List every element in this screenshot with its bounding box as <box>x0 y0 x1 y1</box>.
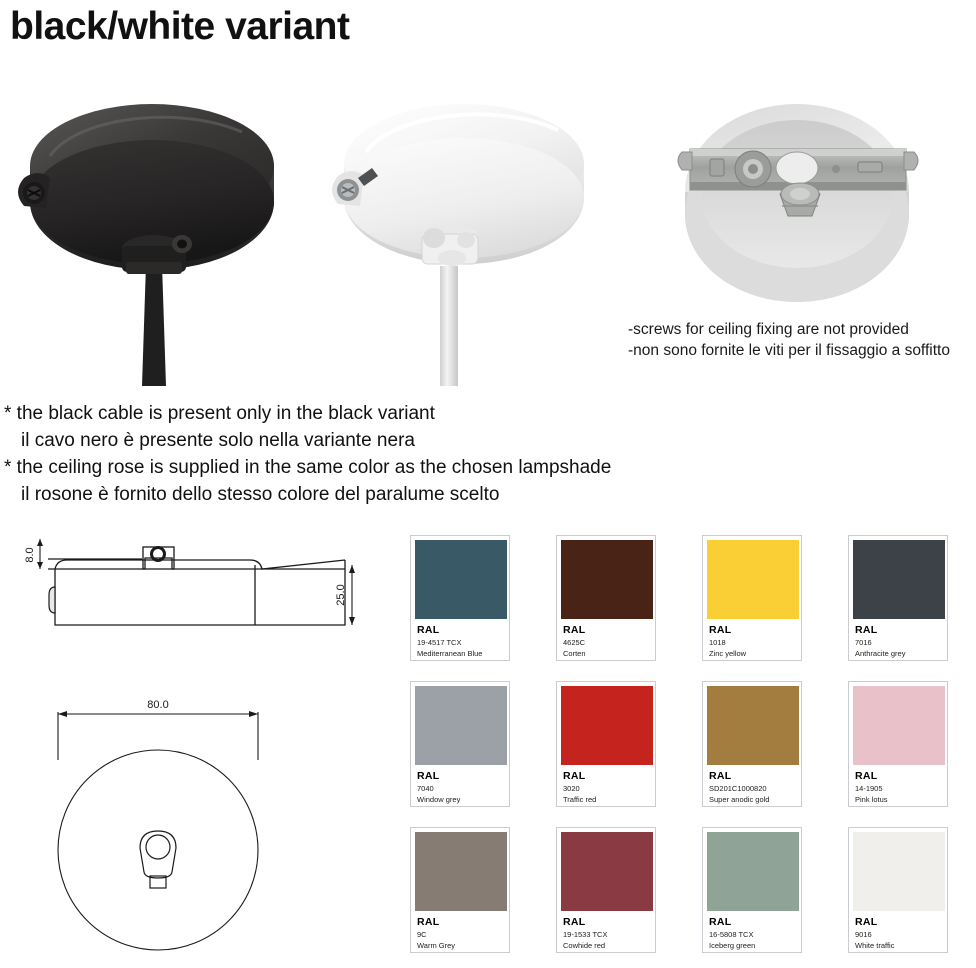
swatch-brand-label: RAL <box>709 624 797 636</box>
swatch-card[interactable]: RAL 19-4517 TCX Mediterranean Blue <box>410 535 510 661</box>
swatch-card[interactable]: RAL 7040 Window grey <box>410 681 510 807</box>
swatch-color-chip <box>707 540 799 619</box>
ceiling-rose-white-photo <box>322 86 622 386</box>
swatch-brand-label: RAL <box>709 916 797 928</box>
swatch-brand-label: RAL <box>417 916 505 928</box>
swatch-name: Window grey <box>417 794 505 805</box>
swatch-code: 14-1905 <box>855 783 943 794</box>
swatch-code: 9016 <box>855 929 943 940</box>
plan-view-diameter-label: 80.0 <box>147 699 168 711</box>
swatch-brand-label: RAL <box>563 624 651 636</box>
swatch-brand-label: RAL <box>563 916 651 928</box>
swatch-card[interactable]: RAL 9C Warm Grey <box>410 827 510 953</box>
swatch-code: 16-5808 TCX <box>709 929 797 940</box>
swatch-color-chip <box>561 686 653 765</box>
swatch-color-chip <box>707 832 799 911</box>
swatch-color-chip <box>415 540 507 619</box>
swatch-brand-label: RAL <box>855 770 943 782</box>
swatch-color-chip <box>415 686 507 765</box>
page-title: black/white variant <box>10 2 349 52</box>
swatch-code: 4625C <box>563 637 651 648</box>
swatch-name: Traffic red <box>563 794 651 805</box>
swatch-card[interactable]: RAL 9016 White traffic <box>848 827 948 953</box>
screw-note-line-it: -non sono fornite le viti per il fissagg… <box>628 341 950 362</box>
swatch-color-chip <box>561 832 653 911</box>
swatch-code: 9C <box>417 929 505 940</box>
swatch-name: Zinc yellow <box>709 648 797 659</box>
screw-note-line-en: -screws for ceiling fixing are not provi… <box>628 320 950 341</box>
swatch-code: 3020 <box>563 783 651 794</box>
swatch-name: White traffic <box>855 940 943 951</box>
ceiling-rose-bracket-photo <box>630 94 970 309</box>
swatch-card[interactable]: RAL SD201C1000820 Super anodic gold <box>702 681 802 807</box>
swatch-name: Warm Grey <box>417 940 505 951</box>
swatch-card[interactable]: RAL 19-1533 TCX Cowhide red <box>556 827 656 953</box>
swatch-code: 1018 <box>709 637 797 648</box>
swatch-color-chip <box>853 686 945 765</box>
side-view-height-label: 8.0 <box>24 547 36 562</box>
plan-view-drawing: 80.0 <box>0 690 400 968</box>
swatch-code: 7040 <box>417 783 505 794</box>
swatch-brand-label: RAL <box>417 770 505 782</box>
swatch-brand-label: RAL <box>417 624 505 636</box>
swatch-name: Mediterranean Blue <box>417 648 505 659</box>
product-spec-sheet: black/white variant <box>0 0 976 968</box>
swatch-color-chip <box>853 540 945 619</box>
swatch-color-chip <box>707 686 799 765</box>
product-notes: * the black cable is present only in the… <box>4 400 764 508</box>
side-view-depth-label: 25.0 <box>335 584 347 605</box>
side-view-drawing: 8.0 25.0 <box>0 525 400 655</box>
swatch-card[interactable]: RAL 14-1905 Pink lotus <box>848 681 948 807</box>
swatch-name: Pink lotus <box>855 794 943 805</box>
swatch-card[interactable]: RAL 4625C Corten <box>556 535 656 661</box>
note-color-it: il rosone è fornito dello stesso colore … <box>4 481 764 508</box>
swatch-name: Corten <box>563 648 651 659</box>
swatch-code: SD201C1000820 <box>709 783 797 794</box>
swatch-name: Iceberg green <box>709 940 797 951</box>
screw-note: -screws for ceiling fixing are not provi… <box>628 320 950 361</box>
swatch-color-chip <box>415 832 507 911</box>
swatch-code: 7016 <box>855 637 943 648</box>
swatch-brand-label: RAL <box>563 770 651 782</box>
swatch-code: 19-4517 TCX <box>417 637 505 648</box>
swatch-brand-label: RAL <box>855 624 943 636</box>
swatch-brand-label: RAL <box>709 770 797 782</box>
ceiling-rose-black-photo <box>14 86 314 386</box>
note-cable-it: il cavo nero è presente solo nella varia… <box>4 427 764 454</box>
swatch-code: 19-1533 TCX <box>563 929 651 940</box>
note-cable-en: * the black cable is present only in the… <box>4 400 764 427</box>
note-color-en: * the ceiling rose is supplied in the sa… <box>4 454 764 481</box>
swatch-name: Super anodic gold <box>709 794 797 805</box>
swatch-name: Cowhide red <box>563 940 651 951</box>
swatch-color-chip <box>561 540 653 619</box>
swatch-color-chip <box>853 832 945 911</box>
swatch-card[interactable]: RAL 16-5808 TCX Iceberg green <box>702 827 802 953</box>
swatch-name: Anthracite grey <box>855 648 943 659</box>
swatch-card[interactable]: RAL 3020 Traffic red <box>556 681 656 807</box>
swatch-card[interactable]: RAL 1018 Zinc yellow <box>702 535 802 661</box>
swatch-brand-label: RAL <box>855 916 943 928</box>
color-swatch-grid: RAL 19-4517 TCX Mediterranean Blue RAL 4… <box>410 535 948 959</box>
swatch-card[interactable]: RAL 7016 Anthracite grey <box>848 535 948 661</box>
